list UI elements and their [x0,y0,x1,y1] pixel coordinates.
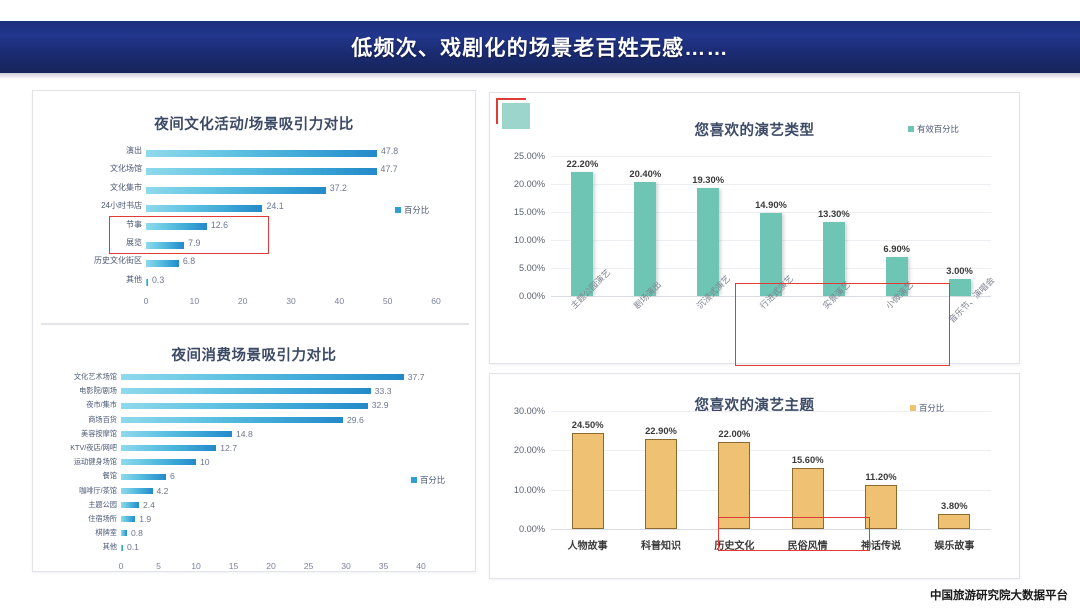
bar-segment [146,260,179,267]
bar-value-label: 14.90% [739,199,803,210]
bar-value-label: 10 [200,456,210,468]
legend-swatch [908,126,914,132]
bar-value-label: 29.6 [347,414,364,426]
bar-segment [121,474,166,480]
y-axis-tick: 20.00% [493,179,545,189]
y-axis-tick: 30.00% [493,406,545,416]
bar-segment [121,445,216,451]
bar-value-label: 2.4 [143,499,155,511]
bar-value-label: 1.9 [139,513,151,525]
bar-segment [121,431,232,437]
x-axis-tick: 5 [145,561,173,571]
performance-type-card: 您喜欢的演艺类型 0.00%5.00%10.00%15.00%20.00%25.… [489,92,1020,364]
page-title: 低频次、戏剧化的场景老百姓无感…… [351,32,728,62]
bar-category-label: 文化集市 [62,182,142,194]
x-axis-tick: 30 [332,561,360,571]
legend-swatch [910,405,916,411]
y-axis-tick: 10.00% [493,485,545,495]
bar [571,172,593,296]
bar-value-label: 47.8 [381,145,398,157]
x-axis-category-label: 人物故事 [548,537,628,552]
slide-title-banner: 低频次、戏剧化的场景老百姓无感…… [0,21,1080,73]
bar-segment [121,488,153,494]
bar-category-label: 文化艺术场馆 [37,371,117,383]
bar-value-label: 6.90% [865,243,929,254]
bar-segment [121,403,368,409]
bar-category-label: 运动健身场馆 [37,456,117,468]
x-axis-tick: 20 [229,296,257,306]
x-axis-tick: 20 [257,561,285,571]
x-axis-tick: 30 [277,296,305,306]
bar [938,514,970,529]
x-axis-tick: 35 [370,561,398,571]
x-axis-tick: 60 [422,296,450,306]
bar-segment [121,530,127,536]
bar-segment [121,459,196,465]
bar [645,439,677,529]
bar-value-label: 0.3 [152,274,164,286]
x-axis-tick: 10 [180,296,208,306]
bar-value-label: 22.20% [550,158,614,169]
bar-value-label: 20.40% [613,168,677,179]
bar-segment [146,187,326,194]
bar [949,279,971,296]
legend-label: 百分比 [420,474,445,486]
bar-value-label: 4.2 [157,485,169,497]
y-axis-tick: 20.00% [493,445,545,455]
bar-value-label: 37.2 [330,182,347,194]
bar-value-label: 3.80% [922,500,986,511]
bar-value-label: 22.90% [629,425,693,436]
bar-value-label: 3.00% [928,265,992,276]
left-charts-card: 夜间文化活动/场景吸引力对比 演出47.8文化场馆47.7文化集市37.224小… [32,90,476,572]
bar-value-label: 33.3 [375,385,392,397]
bar-value-label: 12.7 [220,442,237,454]
performance-theme-card: 您喜欢的演艺主题 0.00%10.00%20.00%30.00%24.50%人物… [489,373,1020,579]
bar-category-label: 电影院/剧场 [37,385,117,397]
x-axis-tick: 40 [407,561,435,571]
chart-title-night-culture: 夜间文化活动/场景吸引力对比 [33,113,475,134]
bar-value-label: 15.60% [776,454,840,465]
bar-value-label: 14.8 [236,428,253,440]
y-axis-tick: 15.00% [493,207,545,217]
bar-segment [121,516,135,522]
x-axis-tick: 40 [325,296,353,306]
teal-legend-square [502,103,530,129]
bar-segment [146,168,377,175]
bar-segment [121,388,371,394]
bar-segment [121,417,343,423]
bar-value-label: 24.1 [266,200,283,212]
bar-value-label: 22.00% [702,428,766,439]
y-axis-tick: 0.00% [493,524,545,534]
highlight-box [718,517,870,551]
card-divider [41,323,469,325]
chart-legend: 百分比 [910,402,944,414]
y-axis-tick: 25.00% [493,151,545,161]
bar-category-label: 其他 [62,274,142,286]
legend-label: 有效百分比 [917,123,959,135]
bar-segment [146,150,377,157]
legend-label: 百分比 [404,204,429,216]
chart-legend: 百分比 [395,204,429,216]
highlight-box [109,216,269,255]
bar-segment [121,545,123,551]
bar-category-label: 咖啡厅/茶馆 [37,485,117,497]
bar-segment [121,502,139,508]
gridline [551,490,991,491]
bar-value-label: 19.30% [676,174,740,185]
legend-label: 百分比 [919,402,944,414]
x-axis-tick: 25 [295,561,323,571]
bar-category-label: 历史文化街区 [62,255,142,267]
gridline [551,156,991,157]
x-axis-tick: 10 [182,561,210,571]
bar-category-label: 棋牌室 [37,527,117,539]
bar-value-label: 24.50% [556,419,620,430]
x-axis-tick: 0 [107,561,135,571]
y-axis-tick: 0.00% [493,291,545,301]
x-axis-tick: 0 [132,296,160,306]
chart-title-night-consumption: 夜间消费场景吸引力对比 [33,344,475,365]
bar-value-label: 37.7 [408,371,425,383]
bar-category-label: 其他 [37,541,117,553]
bar-segment [121,374,404,380]
chart-legend: 百分比 [411,474,445,486]
y-axis-tick: 5.00% [493,263,545,273]
bar-category-label: 住宿场所 [37,513,117,525]
bar [718,442,750,529]
bar-value-label: 47.7 [381,163,398,175]
bar-category-label: 演出 [62,145,142,157]
chart-legend: 有效百分比 [908,123,959,135]
banner-shadow [0,73,1080,79]
bar-segment [146,205,262,212]
x-axis-tick: 15 [220,561,248,571]
x-axis-tick: 50 [374,296,402,306]
y-axis-tick: 10.00% [493,235,545,245]
bar [572,433,604,529]
bar-value-label: 6 [170,470,175,482]
highlight-box [735,283,950,366]
legend-swatch [411,477,417,483]
bar-value-label: 11.20% [849,471,913,482]
bar-value-label: 6.8 [183,255,195,267]
bar-segment [146,279,148,286]
bar-category-label: KTV/夜店/网吧 [37,442,117,454]
slide-root: 低频次、戏剧化的场景老百姓无感…… 夜间文化活动/场景吸引力对比 演出47.8文… [0,0,1080,608]
bar-category-label: 餐馆 [37,470,117,482]
bar-value-label: 13.30% [802,208,866,219]
bar-category-label: 文化场馆 [62,163,142,175]
bar-category-label: 夜市/集市 [37,399,117,411]
x-axis-category-label: 娱乐故事 [914,537,994,552]
bar-category-label: 商场百货 [37,414,117,426]
gridline [551,184,991,185]
bar-category-label: 主题公园 [37,499,117,511]
bar-category-label: 24小时书店 [62,200,142,212]
gridline [551,450,991,451]
bar-category-label: 美容按摩馆 [37,428,117,440]
x-axis-category-label: 科普知识 [621,537,701,552]
bar [634,182,656,296]
bar-value-label: 0.8 [131,527,143,539]
bar-value-label: 32.9 [372,399,389,411]
footer-brand: 中国旅游研究院大数据平台 [930,587,1068,603]
legend-swatch [395,207,401,213]
bar-value-label: 0.1 [127,541,139,553]
